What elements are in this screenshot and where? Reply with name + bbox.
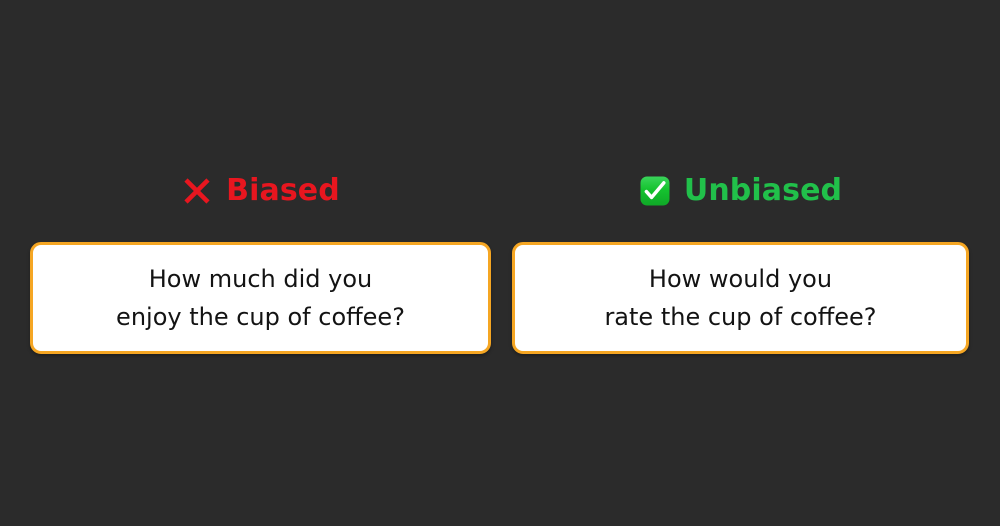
biased-vs-unbiased-comparison: Biased How much did you enjoy the cup of… <box>0 0 1000 526</box>
column-header-biased: Biased <box>181 168 340 214</box>
question-line: enjoy the cup of coffee? <box>116 298 405 336</box>
check-mark-button-icon <box>639 175 671 207</box>
column-header-unbiased: Unbiased <box>639 168 842 214</box>
comparison-column-unbiased: Unbiased How would you rate the cup of c… <box>512 168 969 354</box>
question-line: How would you <box>649 260 832 298</box>
question-line: rate the cup of coffee? <box>604 298 876 336</box>
question-card-unbiased: How would you rate the cup of coffee? <box>512 242 969 354</box>
column-label-unbiased: Unbiased <box>684 176 842 206</box>
comparison-column-biased: Biased How much did you enjoy the cup of… <box>30 168 491 354</box>
question-line: How much did you <box>149 260 372 298</box>
cross-mark-icon <box>181 175 213 207</box>
question-card-biased: How much did you enjoy the cup of coffee… <box>30 242 491 354</box>
column-label-biased: Biased <box>226 176 340 206</box>
